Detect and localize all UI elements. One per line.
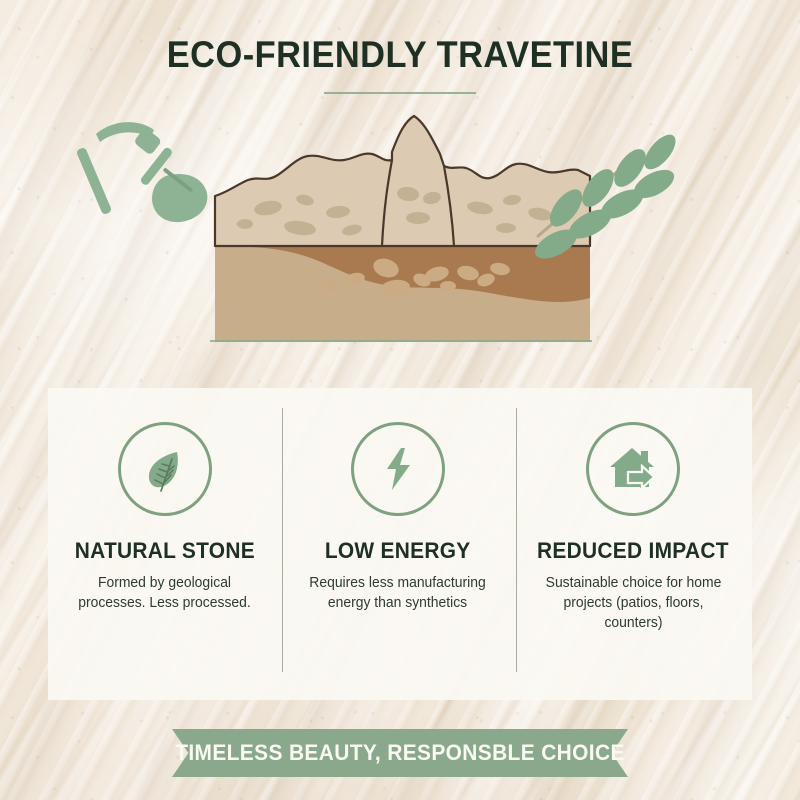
feature-column-natural-stone: NATURAL STONE Formed by geological proce… (48, 388, 281, 700)
tagline-text: TIMELESS BEAUTY, RESPONSBLE CHOICE (183, 729, 616, 777)
tagline-banner: TIMELESS BEAUTY, RESPONSBLE CHOICE (172, 729, 628, 777)
title-divider-rule (324, 92, 476, 94)
hero-illustration (0, 96, 800, 356)
feature-body: Sustainable choice for home projects (pa… (540, 573, 727, 633)
pickaxe-shovel-icon (76, 122, 211, 226)
lightning-bolt-icon (351, 422, 445, 516)
page-title: ECO-FRIENDLY TRAVETINE (28, 34, 772, 76)
features-card: NATURAL STONE Formed by geological proce… (48, 388, 752, 700)
feature-body: Requires less manufacturing energy than … (304, 573, 491, 613)
stone-layer-top (215, 116, 590, 246)
infographic-canvas: ECO-FRIENDLY TRAVETINE (0, 0, 800, 800)
feature-column-low-energy: LOW ENERGY Requires less manufacturing e… (281, 388, 514, 700)
quarry-stone-graphic (0, 96, 800, 356)
feature-title: REDUCED IMPACT (537, 538, 729, 564)
house-arrow-icon (586, 422, 680, 516)
feature-column-reduced-impact: REDUCED IMPACT Sustainable choice for ho… (514, 388, 752, 700)
ground-line (210, 340, 592, 342)
feature-title: NATURAL STONE (74, 538, 254, 564)
feature-title: LOW ENERGY (325, 538, 471, 564)
feature-body: Formed by geological processes. Less pro… (71, 573, 258, 613)
leaf-icon (118, 422, 212, 516)
